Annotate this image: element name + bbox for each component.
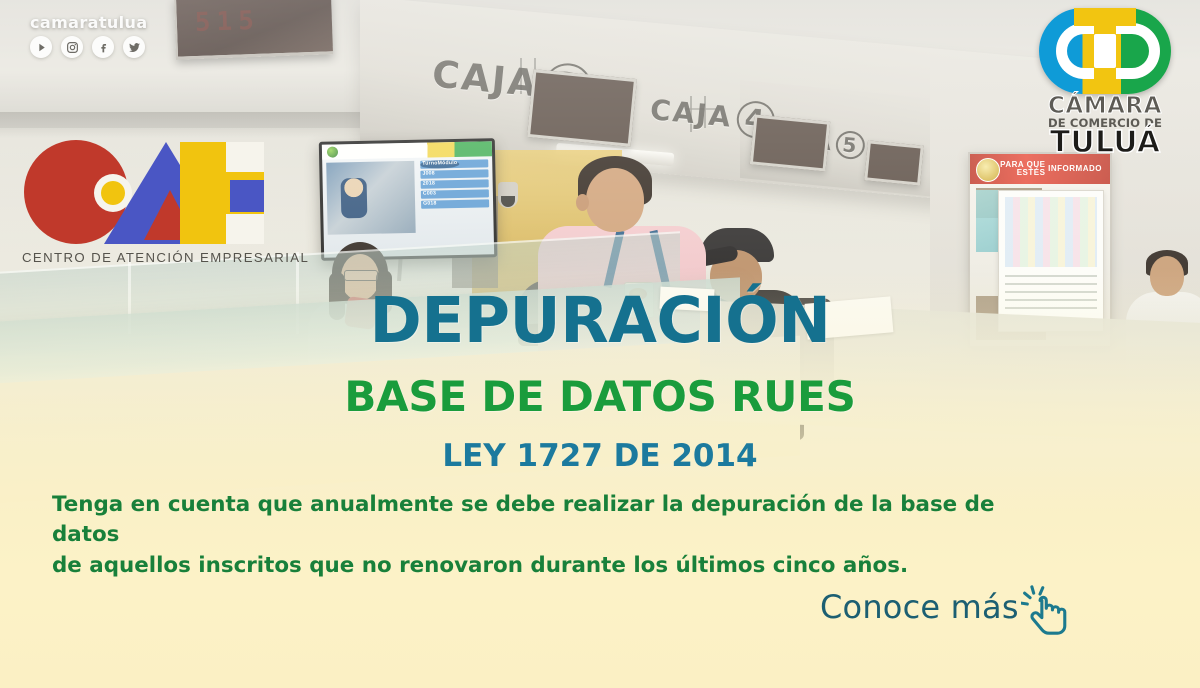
- social-handle: camaratulua: [30, 13, 148, 32]
- cae-logo-mark: [22, 138, 284, 246]
- headline-law: LEY 1727 DE 2014: [0, 441, 1200, 472]
- logo-letter-t-bar: [1074, 8, 1136, 26]
- promo-poster: 515 CAJA3 CAJA4 CAJA5 PARA QUE ESTÉS INF…: [0, 0, 1200, 688]
- instagram-icon[interactable]: [61, 36, 83, 58]
- camara-logo-mark: [1030, 4, 1180, 98]
- social-links[interactable]: [30, 36, 145, 58]
- cae-letter-e-notch: [226, 214, 264, 244]
- facebook-icon[interactable]: [92, 36, 114, 58]
- cae-logo-label: CENTRO DE ATENCIÓN EMPRESARIAL: [22, 250, 292, 265]
- logo-line-camara: CÁMARA: [1030, 95, 1180, 117]
- cae-letter-e-notch: [226, 142, 264, 172]
- logo-line-tulua: TULUÁ: [1030, 129, 1180, 157]
- camara-logo-wordmark: CÁMARA DE COMERCIO DE TULUÁ: [1030, 95, 1180, 157]
- headline-title: DEPURACIÓN: [0, 289, 1200, 352]
- click-hand-icon[interactable]: [1021, 585, 1079, 648]
- twitter-icon[interactable]: [123, 36, 145, 58]
- cae-letter-e-square: [230, 180, 264, 212]
- headline-subtitle: BASE DE DATOS RUES: [0, 376, 1200, 418]
- body-text-line1: Tenga en cuenta que anualmente se debe r…: [52, 490, 1052, 551]
- body-text: Tenga en cuenta que anualmente se debe r…: [52, 490, 1052, 581]
- body-text-line2: de aquellos inscritos que no renovaron d…: [52, 551, 1052, 581]
- camara-comercio-logo: CÁMARA DE COMERCIO DE TULUÁ: [1030, 4, 1180, 156]
- cta-conoce-mas[interactable]: Conoce más: [820, 585, 1079, 626]
- cae-logo: CENTRO DE ATENCIÓN EMPRESARIAL: [22, 138, 284, 274]
- youtube-icon[interactable]: [30, 36, 52, 58]
- logo-letter-t-mask: [1094, 34, 1116, 68]
- cta-label[interactable]: Conoce más: [820, 588, 1019, 626]
